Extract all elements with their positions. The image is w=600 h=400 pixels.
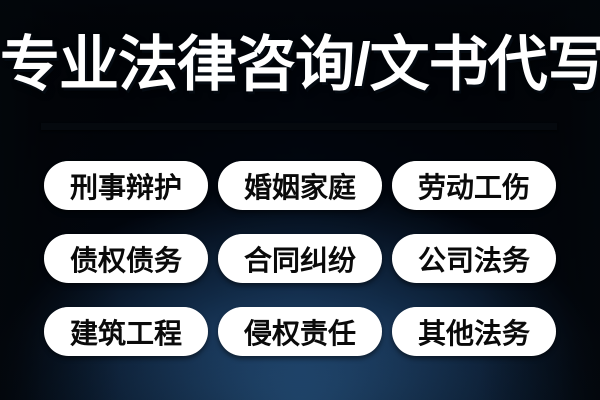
service-tag-label: 刑事辩护 <box>70 166 182 206</box>
service-tag-construction-engineering[interactable]: 建筑工程 <box>44 307 208 356</box>
service-tag-contract-dispute[interactable]: 合同纠纷 <box>218 234 382 283</box>
service-tag-label: 其他法务 <box>418 312 530 352</box>
service-tag-label: 婚姻家庭 <box>244 166 356 206</box>
service-tag-label: 公司法务 <box>418 239 530 279</box>
service-tag-corporate-legal[interactable]: 公司法务 <box>392 234 556 283</box>
service-tag-other-legal[interactable]: 其他法务 <box>392 307 556 356</box>
service-tag-tort-liability[interactable]: 侵权责任 <box>218 307 382 356</box>
service-tag-marriage-family[interactable]: 婚姻家庭 <box>218 161 382 210</box>
service-tag-label: 侵权责任 <box>244 312 356 352</box>
service-tag-label: 劳动工伤 <box>418 166 530 206</box>
service-tag-criminal-defense[interactable]: 刑事辩护 <box>44 161 208 210</box>
service-tag-label: 合同纠纷 <box>244 239 356 279</box>
service-row-1: 刑事辩护 婚姻家庭 劳动工伤 <box>44 161 556 210</box>
service-tag-debt-claims[interactable]: 债权债务 <box>44 234 208 283</box>
title-divider <box>41 123 557 130</box>
service-row-3: 建筑工程 侵权责任 其他法务 <box>44 307 556 356</box>
service-tag-label: 债权债务 <box>70 239 182 279</box>
service-tag-label: 建筑工程 <box>70 312 182 352</box>
service-tag-labor-injury[interactable]: 劳动工伤 <box>392 161 556 210</box>
promo-poster: 专业法律咨询/文书代写 刑事辩护 婚姻家庭 劳动工伤 债权债务 合同 <box>0 0 600 400</box>
poster-content: 专业法律咨询/文书代写 刑事辩护 婚姻家庭 劳动工伤 债权债务 合同 <box>0 0 600 400</box>
page-title: 专业法律咨询/文书代写 <box>0 30 600 100</box>
service-tag-grid: 刑事辩护 婚姻家庭 劳动工伤 债权债务 合同纠纷 公司法务 <box>44 161 556 356</box>
service-row-2: 债权债务 合同纠纷 公司法务 <box>44 234 556 283</box>
